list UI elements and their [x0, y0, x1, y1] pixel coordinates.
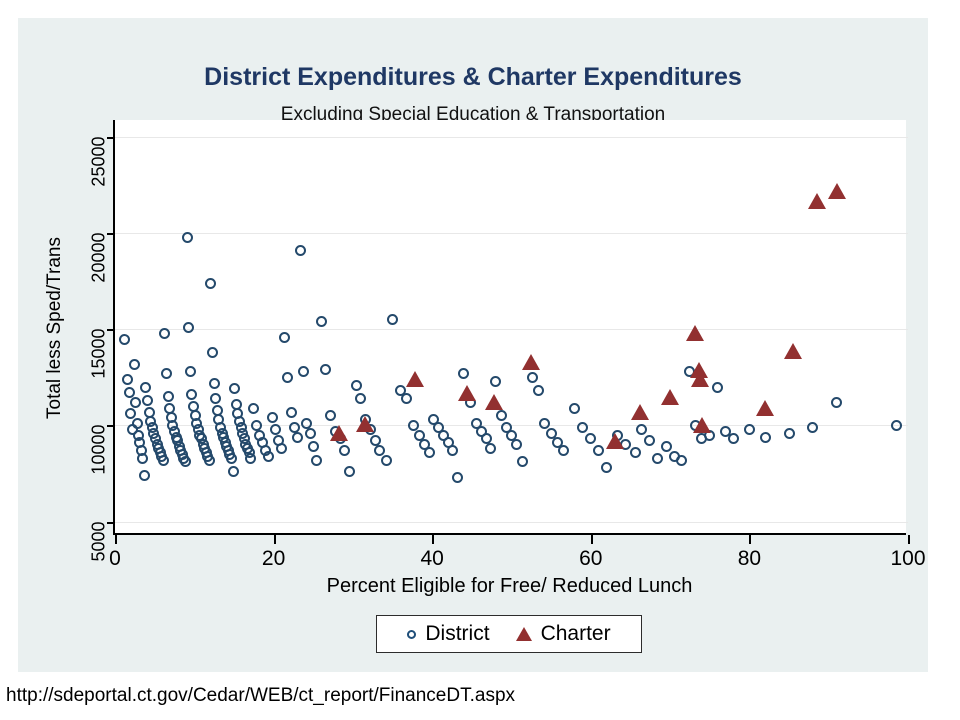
district-data-point: [593, 445, 604, 456]
charter-data-point: [828, 183, 846, 199]
district-data-point: [132, 418, 143, 429]
x-axis-tick: [274, 535, 276, 544]
x-axis-tick-label: 0: [109, 547, 121, 571]
x-axis-tick-label: 80: [738, 547, 761, 571]
district-data-point: [182, 232, 193, 243]
district-data-point: [661, 441, 672, 452]
district-data-point: [163, 391, 174, 402]
district-data-point: [601, 462, 612, 473]
district-data-point: [831, 397, 842, 408]
charter-data-point: [693, 417, 711, 433]
slide-root: District Expenditures & Charter Expendit…: [0, 0, 960, 720]
district-data-point: [517, 456, 528, 467]
district-data-point: [270, 424, 281, 435]
x-axis-tick: [432, 535, 434, 544]
district-data-point: [245, 453, 256, 464]
district-data-point: [496, 410, 507, 421]
charter-data-point: [356, 416, 374, 432]
district-data-point: [744, 424, 755, 435]
charter-data-point: [606, 433, 624, 449]
district-data-point: [305, 428, 316, 439]
district-data-point: [159, 328, 170, 339]
district-data-point: [207, 347, 218, 358]
charter-data-point: [686, 325, 704, 341]
district-data-point: [424, 447, 435, 458]
district-data-point: [209, 378, 220, 389]
district-data-point: [485, 443, 496, 454]
district-data-point: [311, 455, 322, 466]
district-data-point: [577, 422, 588, 433]
district-data-point: [355, 393, 366, 404]
chart-title: District Expenditures & Charter Expendit…: [18, 63, 928, 92]
district-data-point: [490, 376, 501, 387]
district-data-point: [728, 433, 739, 444]
district-data-point: [344, 466, 355, 477]
x-axis-title: Percent Eligible for Free/ Reduced Lunch: [113, 575, 906, 598]
district-data-point: [558, 445, 569, 456]
open-circle-icon: [407, 630, 416, 639]
district-data-point: [784, 428, 795, 439]
district-data-point: [158, 455, 169, 466]
x-axis-tick: [749, 535, 751, 544]
legend-label-charter: Charter: [541, 622, 611, 646]
district-data-point: [180, 456, 191, 467]
filled-triangle-icon: [516, 627, 532, 641]
district-data-point: [229, 383, 240, 394]
district-data-point: [228, 466, 239, 477]
district-data-point: [130, 397, 141, 408]
y-gridline: [115, 329, 908, 330]
charter-data-point: [522, 354, 540, 370]
charter-data-point: [784, 343, 802, 359]
district-data-point: [308, 441, 319, 452]
y-gridline: [115, 522, 908, 523]
district-data-point: [137, 453, 148, 464]
district-data-point: [533, 385, 544, 396]
legend-label-district: District: [425, 622, 489, 646]
district-data-point: [339, 445, 350, 456]
district-data-point: [381, 455, 392, 466]
district-data-point: [316, 316, 327, 327]
district-data-point: [652, 453, 663, 464]
legend-item-charter[interactable]: Charter: [516, 622, 611, 646]
district-data-point: [458, 368, 469, 379]
district-data-point: [511, 439, 522, 450]
district-data-point: [320, 364, 331, 375]
district-data-point: [292, 432, 303, 443]
district-data-point: [205, 278, 216, 289]
district-data-point: [248, 403, 259, 414]
legend-item-district[interactable]: District: [407, 622, 489, 646]
y-gridline: [115, 233, 908, 234]
district-data-point: [351, 380, 362, 391]
district-data-point: [183, 322, 194, 333]
district-data-point: [387, 314, 398, 325]
district-data-point: [279, 332, 290, 343]
district-data-point: [585, 433, 596, 444]
district-data-point: [891, 420, 902, 431]
y-axis-title-label: Total less Sped/Trans: [44, 237, 66, 419]
district-data-point: [452, 472, 463, 483]
district-data-point: [276, 443, 287, 454]
district-data-point: [122, 374, 133, 385]
district-data-point: [129, 359, 140, 370]
district-data-point: [807, 422, 818, 433]
district-data-point: [226, 453, 237, 464]
district-data-point: [185, 366, 196, 377]
district-data-point: [676, 455, 687, 466]
x-axis-tick-label: 20: [262, 547, 285, 571]
district-data-point: [760, 432, 771, 443]
district-data-point: [295, 245, 306, 256]
charter-data-point: [406, 371, 424, 387]
y-axis-tick-label: 25000: [89, 137, 110, 187]
district-data-point: [210, 393, 221, 404]
district-data-point: [644, 435, 655, 446]
y-axis-tick-label: 10000: [89, 425, 110, 475]
x-axis-tick-label: 40: [421, 547, 444, 571]
district-data-point: [374, 445, 385, 456]
district-data-point: [712, 382, 723, 393]
charter-data-point: [661, 389, 679, 405]
plot-inner: [115, 120, 908, 535]
district-data-point: [569, 403, 580, 414]
district-data-point: [142, 395, 153, 406]
charter-data-point: [808, 193, 826, 209]
y-axis-title: Total less Sped/Trans: [44, 120, 66, 535]
x-axis-tick: [908, 535, 910, 544]
district-data-point: [267, 412, 278, 423]
x-axis-tick: [115, 535, 117, 544]
charter-data-point: [330, 425, 348, 441]
charter-data-point: [756, 400, 774, 416]
charter-data-point: [691, 371, 709, 387]
district-data-point: [204, 455, 215, 466]
chart-legend: District Charter: [376, 615, 642, 653]
district-data-point: [186, 389, 197, 400]
district-data-point: [263, 451, 274, 462]
x-axis-tick-label: 100: [890, 547, 925, 571]
district-data-point: [401, 393, 412, 404]
charter-data-point: [458, 385, 476, 401]
district-data-point: [527, 372, 538, 383]
source-url-text: http://sdeportal.ct.gov/Cedar/WEB/ct_rep…: [6, 685, 515, 707]
district-data-point: [325, 410, 336, 421]
charter-data-point: [631, 404, 649, 420]
y-axis-tick-label: 15000: [89, 329, 110, 379]
district-data-point: [630, 447, 641, 458]
district-data-point: [161, 368, 172, 379]
district-data-point: [282, 372, 293, 383]
y-gridline: [115, 137, 908, 138]
district-data-point: [286, 407, 297, 418]
district-data-point: [139, 470, 150, 481]
x-axis-tick: [591, 535, 593, 544]
district-data-point: [298, 366, 309, 377]
charter-data-point: [485, 394, 503, 410]
x-axis-tick-label: 60: [579, 547, 602, 571]
y-axis-tick-label: 20000: [89, 233, 110, 283]
district-data-point: [119, 334, 130, 345]
district-data-point: [636, 424, 647, 435]
plot-area: 500010000150002000025000020406080100: [113, 120, 906, 535]
district-data-point: [447, 445, 458, 456]
district-data-point: [140, 382, 151, 393]
y-axis-tick-label: 5000: [89, 521, 110, 561]
